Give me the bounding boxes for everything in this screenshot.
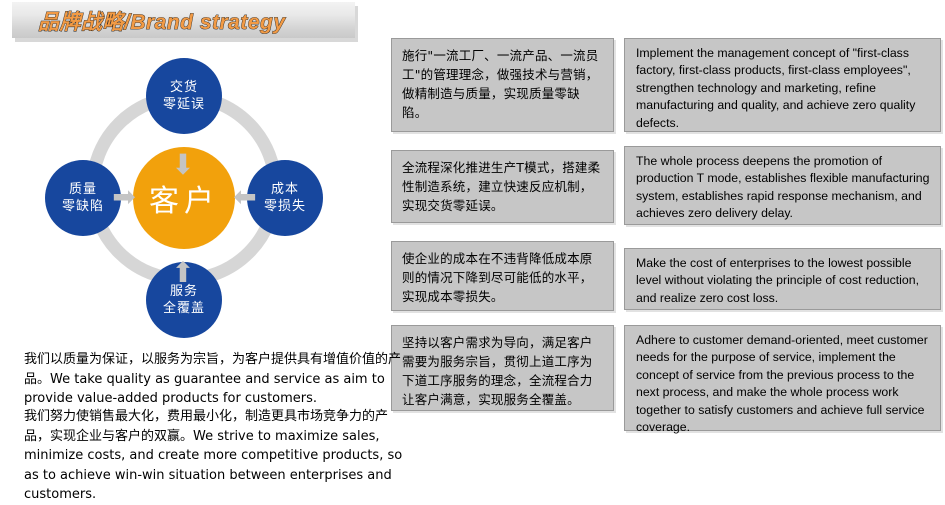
node-label-line2: 零损失: [264, 198, 306, 215]
summary-paragraph-2: 我们努力使销售最大化，费用最小化，制造更具市场竞争力的产品，实现企业与客户的双赢…: [24, 407, 404, 505]
diagram-node-cost[interactable]: 成本 零损失: [247, 160, 323, 236]
arrow-left-icon: ⬅: [232, 184, 258, 210]
node-label-line2: 零缺陷: [62, 198, 104, 215]
node-label-line1: 质量: [69, 181, 97, 198]
statement-english-4: Adhere to customer demand-oriented, meet…: [624, 325, 941, 431]
node-label-line1: 交货: [170, 79, 198, 96]
arrow-right-icon: ➡: [111, 184, 137, 210]
node-label-line2: 全覆盖: [163, 300, 205, 317]
node-label-line1: 成本: [271, 181, 299, 198]
diagram-node-delivery[interactable]: 交货 零延误: [146, 58, 222, 134]
statement-english-2: The whole process deepens the promotion …: [624, 146, 941, 225]
statement-chinese-4: 坚持以客户需求为导向，满足客户需要为服务宗旨，贯彻上道工序为下道工序服务的理念，…: [391, 325, 614, 411]
center-label: 客户: [149, 176, 219, 220]
page-title: 品牌战略/Brand strategy: [38, 6, 286, 36]
diagram-node-quality[interactable]: 质量 零缺陷: [45, 160, 121, 236]
node-label-line2: 零延误: [163, 96, 205, 113]
statement-english-1: Implement the management concept of "fir…: [624, 38, 941, 132]
arrow-down-icon: ⬇: [170, 152, 196, 178]
statement-chinese-2: 全流程深化推进生产T模式，搭建柔性制造系统，建立快速反应机制，实现交货零延误。: [391, 150, 614, 223]
statement-chinese-1: 施行"一流工厂、一流产品、一流员工"的管理理念，做强技术与营销，做精制造与质量，…: [391, 38, 614, 132]
brand-strategy-diagram: 交货 零延误 质量 零缺陷 成本 零损失 服务 全覆盖 客户 ⬇ ⬆ ➡ ⬅: [38, 52, 338, 342]
statement-english-3: Make the cost of enterprises to the lowe…: [624, 248, 941, 310]
statement-chinese-3: 使企业的成本在不违背降低成本原则的情况下降到尽可能低的水平，实现成本零损失。: [391, 241, 614, 311]
arrow-up-icon: ⬆: [170, 260, 196, 286]
summary-paragraph-1: 我们以质量为保证，以服务为宗旨，为客户提供具有增值价值的产品。We take q…: [24, 350, 404, 409]
